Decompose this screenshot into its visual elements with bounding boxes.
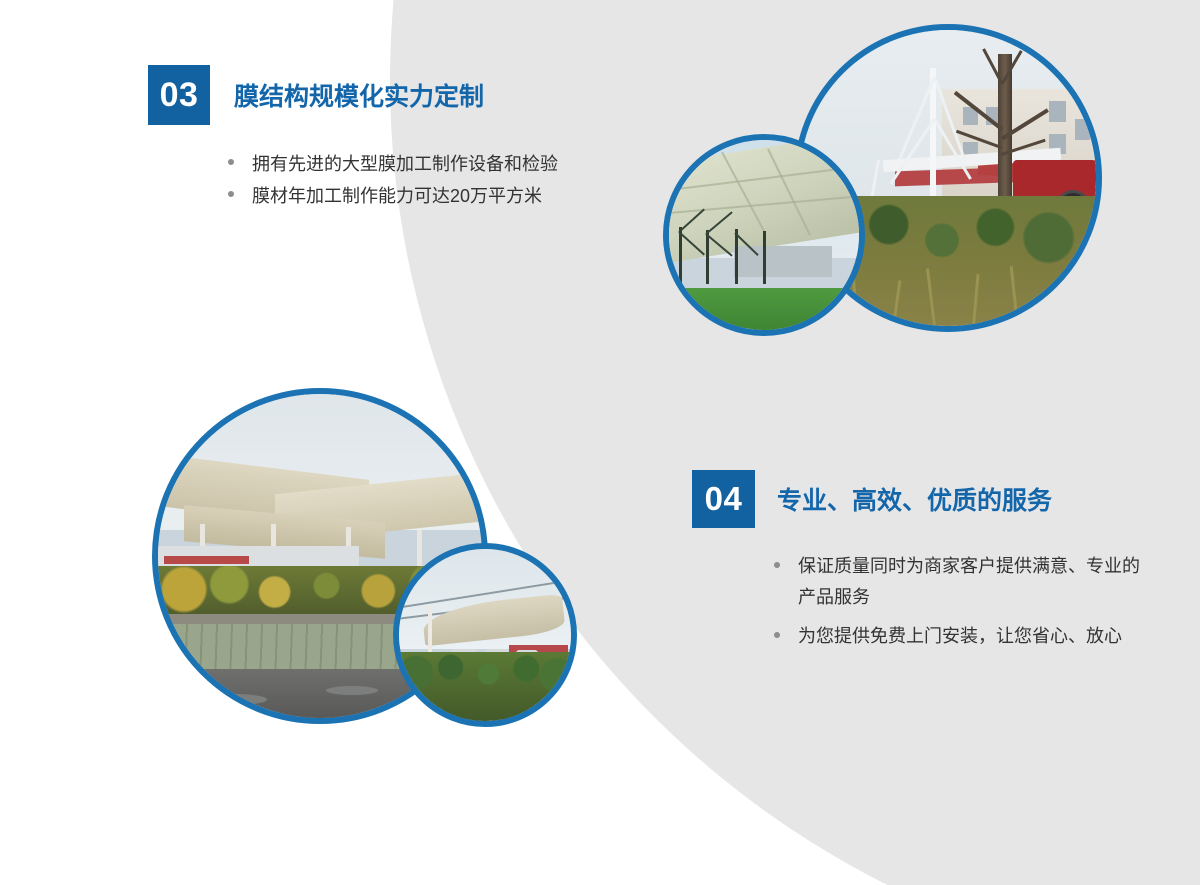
section-title-04: 专业、高效、优质的服务 (777, 481, 1052, 517)
list-item-label: 为您提供免费上门安装，让您省心、放心 (798, 621, 1144, 652)
section-header: 03 膜结构规模化实力定制 (148, 65, 558, 125)
section-header: 04 专业、高效、优质的服务 (692, 470, 1144, 528)
photo-scene (669, 140, 859, 330)
list-item: 拥有先进的大型膜加工制作设备和检验 (228, 148, 558, 180)
list-item: 膜材年加工制作能力可达20万平方米 (228, 180, 558, 212)
driving-range-netting (673, 227, 783, 284)
list-item: 为您提供免费上门安装，让您省心、放心 (774, 621, 1144, 652)
green-turf (669, 288, 859, 330)
section-04-bullet-list: 保证质量同时为商家客户提供满意、专业的产品服务 为您提供免费上门安装，让您省心、… (774, 551, 1144, 652)
red-roof-edge (164, 556, 248, 564)
list-item-label: 保证质量同时为商家客户提供满意、专业的产品服务 (798, 551, 1144, 613)
photo-scene (399, 549, 571, 721)
bullet-dot-icon (774, 632, 780, 638)
net-brace (679, 231, 706, 255)
list-item: 保证质量同时为商家客户提供满意、专业的产品服务 (774, 551, 1144, 613)
feature-section-04: 04 专业、高效、优质的服务 保证质量同时为商家客户提供满意、专业的产品服务 为… (692, 470, 1144, 652)
photo-circle-cable-stayed-membrane-canopy[interactable] (393, 543, 577, 727)
building-window (1049, 101, 1067, 122)
shrub-bed (399, 652, 571, 721)
photo-circle-membrane-canopy-underside[interactable] (663, 134, 865, 336)
support-mast (428, 606, 432, 658)
section-number-badge-03: 03 (148, 65, 210, 125)
bullet-dot-icon (228, 191, 234, 197)
bullet-dot-icon (774, 562, 780, 568)
net-brace (705, 233, 732, 256)
section-title-03: 膜结构规模化实力定制 (234, 77, 484, 113)
section-number-badge-04: 04 (692, 470, 755, 528)
list-item-label: 膜材年加工制作能力可达20万平方米 (252, 180, 558, 212)
bullet-dot-icon (228, 159, 234, 165)
net-post (763, 231, 766, 285)
section-03-bullet-list: 拥有先进的大型膜加工制作设备和检验 膜材年加工制作能力可达20万平方米 (228, 148, 558, 212)
building-window (1075, 119, 1090, 140)
list-item-label: 拥有先进的大型膜加工制作设备和检验 (252, 148, 558, 180)
feature-section-03: 03 膜结构规模化实力定制 拥有先进的大型膜加工制作设备和检验 膜材年加工制作能… (148, 65, 558, 212)
support-mast (930, 68, 936, 207)
